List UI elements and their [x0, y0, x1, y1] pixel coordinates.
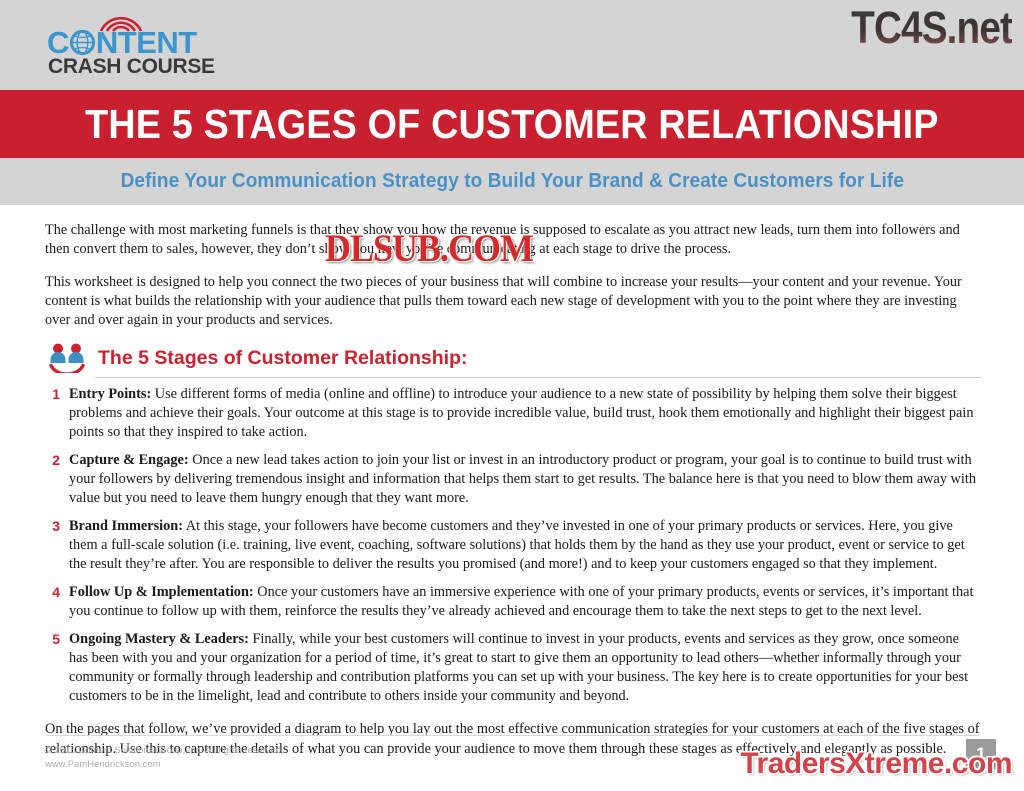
stage-body: Entry Points: Use different forms of med… — [69, 385, 981, 442]
stage-body: Ongoing Mastery & Leaders: Finally, whil… — [69, 630, 981, 706]
stages-list: 1 Entry Points: Use different forms of m… — [45, 385, 981, 706]
stage-body: Follow Up & Implementation: Once your cu… — [69, 583, 981, 621]
stage-title: Ongoing Mastery & Leaders: — [69, 631, 249, 647]
stage-title: Follow Up & Implementation: — [69, 584, 254, 600]
subtitle-band: Define Your Communication Strategy to Bu… — [0, 158, 1024, 205]
stage-text: Once a new lead takes action to join you… — [69, 452, 976, 506]
section-heading-row: The 5 Stages of Customer Relationship: — [45, 343, 981, 373]
people-group-icon — [45, 343, 89, 373]
main-content: The challenge with most marketing funnel… — [0, 205, 1024, 759]
tc4s-brand-mark: TC4S.net — [851, 2, 1012, 54]
logo-letters-ntent: NTENT — [96, 27, 197, 58]
tradersxtreme-watermark: TradersXtreme.com — [740, 747, 1012, 781]
footer-copyright-block: © 2015 Content Solutions Group, Inc. All… — [45, 744, 284, 772]
copyright-text: © 2015 Content Solutions Group, Inc. All… — [45, 744, 284, 758]
stage-title: Brand Immersion: — [69, 518, 183, 534]
page-subtitle: Define Your Communication Strategy to Bu… — [120, 170, 903, 193]
globe-icon — [69, 29, 96, 56]
intro-paragraph-2: This worksheet is designed to help you c… — [45, 273, 981, 331]
section-divider — [95, 377, 981, 378]
page-header: C NTENT CRASH COURSE TC4S.net — [0, 0, 1024, 90]
stage-number: 1 — [45, 385, 69, 442]
stage-title: Entry Points: — [69, 386, 151, 402]
stage-text: At this stage, your followers have becom… — [69, 518, 965, 572]
logo-content-word: C NTENT — [47, 27, 197, 58]
stage-text: Use different forms of media (online and… — [69, 386, 974, 440]
list-item: 5 Ongoing Mastery & Leaders: Finally, wh… — [45, 630, 981, 706]
section-title: The 5 Stages of Customer Relationship: — [98, 347, 467, 370]
footer-website: www.PamHendrickson.com — [45, 758, 284, 772]
stage-number: 4 — [45, 583, 69, 621]
stage-number: 5 — [45, 630, 69, 706]
stage-number: 3 — [45, 517, 69, 574]
logo-letter-c: C — [47, 27, 69, 58]
logo-crash-course-text: CRASH COURSE — [48, 56, 215, 77]
list-item: 3 Brand Immersion: At this stage, your f… — [45, 517, 981, 574]
page-title: THE 5 STAGES OF CUSTOMER RELATIONSHIP — [85, 101, 938, 148]
footer-divider — [45, 735, 979, 736]
list-item: 2 Capture & Engage: Once a new lead take… — [45, 451, 981, 508]
stage-title: Capture & Engage: — [69, 452, 189, 468]
list-item: 4 Follow Up & Implementation: Once your … — [45, 583, 981, 621]
content-crash-course-logo: C NTENT CRASH COURSE — [47, 14, 217, 76]
intro-paragraph-1: The challenge with most marketing funnel… — [45, 221, 981, 260]
stage-number: 2 — [45, 451, 69, 508]
list-item: 1 Entry Points: Use different forms of m… — [45, 385, 981, 442]
stage-body: Brand Immersion: At this stage, your fol… — [69, 517, 981, 574]
title-banner: THE 5 STAGES OF CUSTOMER RELATIONSHIP — [0, 90, 1024, 158]
page-footer: © 2015 Content Solutions Group, Inc. All… — [0, 735, 1024, 791]
stage-body: Capture & Engage: Once a new lead takes … — [69, 451, 981, 508]
